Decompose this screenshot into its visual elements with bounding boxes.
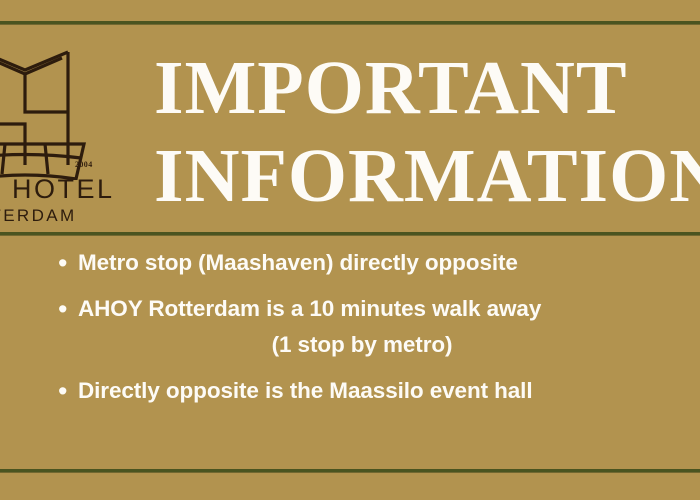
bottom-divider-rule [0, 469, 700, 472]
bullet-dot-icon: • [58, 248, 78, 278]
list-item: • Directly opposite is the Maassilo even… [0, 376, 700, 406]
hotel-logo: 2004 RT HOTEL OTTERDAM [0, 40, 122, 235]
information-list: • Metro stop (Maashaven) directly opposi… [0, 248, 700, 422]
list-item-subtext: (1 stop by metro) [0, 330, 700, 360]
title-line-information: INFORMATION [154, 132, 700, 220]
bullet-dot-icon: • [58, 376, 78, 406]
header-band: 2004 RT HOTEL OTTERDAM IMPORTANT INFORMA… [0, 24, 700, 232]
title-line-important: IMPORTANT [154, 44, 700, 132]
logo-hotel-city: OTTERDAM [0, 206, 77, 226]
list-item: • AHOY Rotterdam is a 10 minutes walk aw… [0, 294, 700, 324]
list-item-text: Directly opposite is the Maassilo event … [78, 376, 533, 406]
list-item-text: AHOY Rotterdam is a 10 minutes walk away [78, 294, 541, 324]
list-item: • Metro stop (Maashaven) directly opposi… [0, 248, 700, 278]
logo-hotel-name: RT HOTEL [0, 174, 115, 205]
page-title: IMPORTANT INFORMATION [154, 44, 700, 220]
header-divider-rule [0, 232, 700, 235]
important-information-poster: 2004 RT HOTEL OTTERDAM IMPORTANT INFORMA… [0, 0, 700, 500]
bullet-dot-icon: • [58, 294, 78, 324]
port-hotel-monogram-icon [0, 40, 122, 180]
logo-founding-year: 2004 [75, 160, 93, 169]
list-item-text: Metro stop (Maashaven) directly opposite [78, 248, 518, 278]
